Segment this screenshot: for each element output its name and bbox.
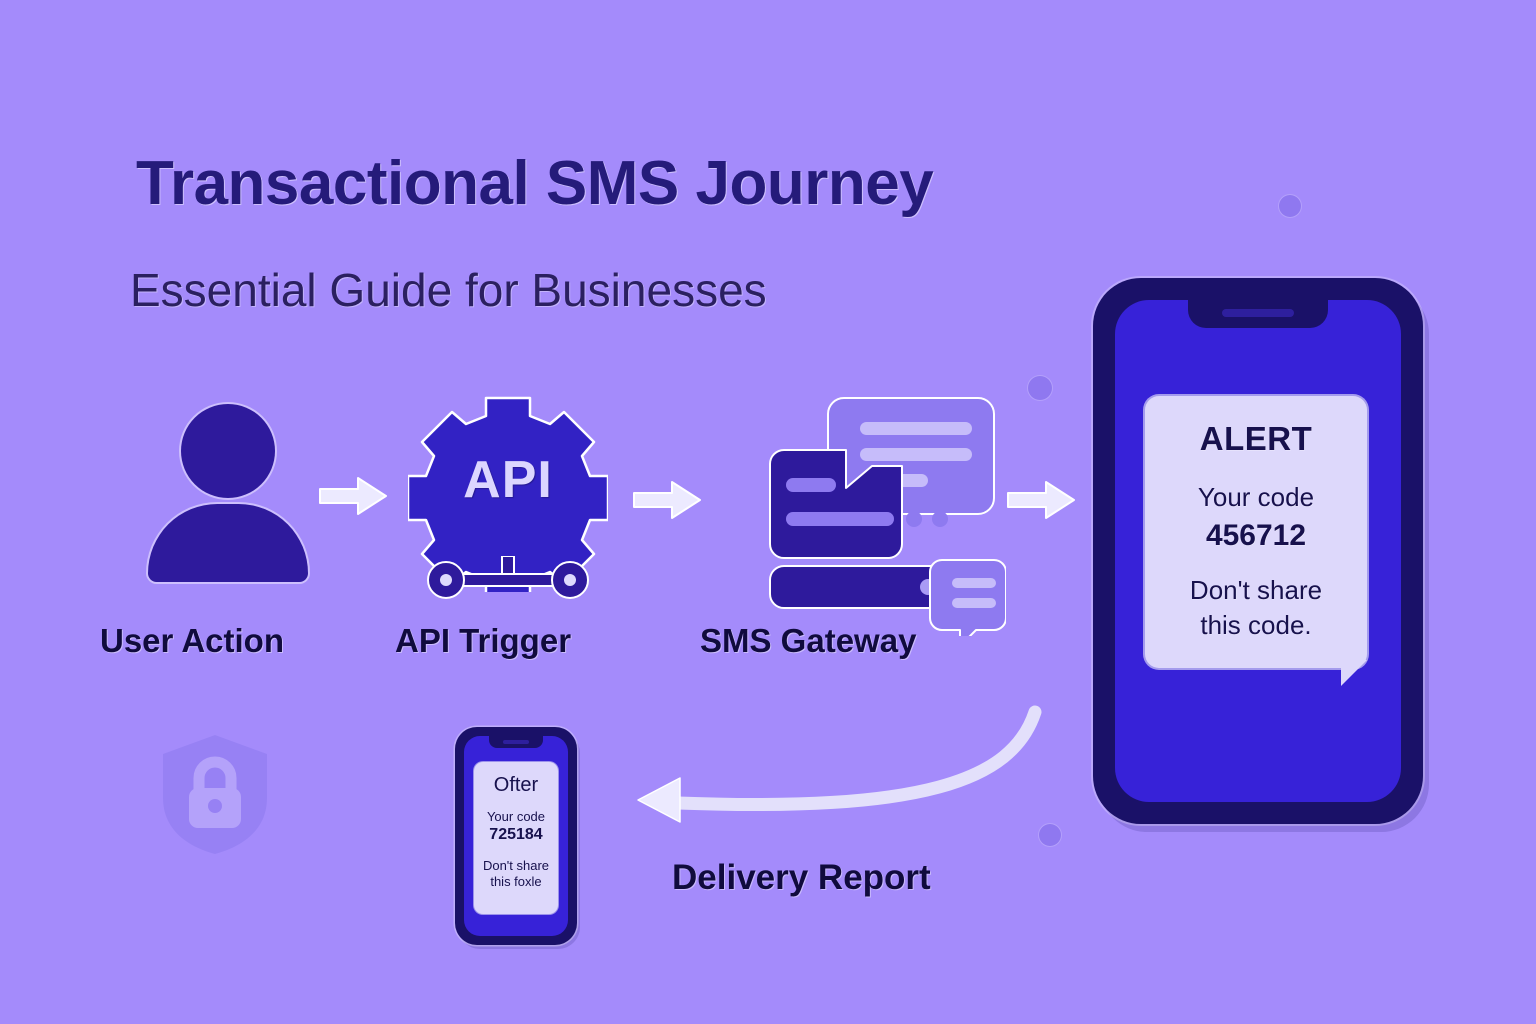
delivery-report-arrow-icon <box>620 690 1070 850</box>
step-label-api-trigger: API Trigger <box>395 622 571 660</box>
delivery-report-label: Delivery Report <box>672 858 931 898</box>
sms-warning-line1: Don't share <box>1145 575 1367 606</box>
arrow-gateway-to-phone-icon <box>1006 478 1076 527</box>
sms-code-value: 456712 <box>1145 519 1367 553</box>
page-title: Transactional SMS Journey <box>136 148 933 219</box>
decorative-dot <box>1279 195 1301 217</box>
delivered-sms-phone: ALERT Your code 456712 Don't share this … <box>1093 278 1423 824</box>
sms-small-code-label: Your code <box>474 809 558 824</box>
shield-lock-icon <box>155 732 275 857</box>
server-icon <box>756 386 1006 636</box>
sms-bubble-large: ALERT Your code 456712 Don't share this … <box>1145 396 1367 668</box>
delivery-report-phone: Ofter Your code 725184 Don't share this … <box>455 727 577 945</box>
network-connector-icon <box>420 556 596 604</box>
step-label-sms-gateway: SMS Gateway <box>700 622 916 660</box>
arrow-user-to-api-icon <box>318 474 388 523</box>
person-head-shape <box>181 404 275 498</box>
sms-small-title: Ofter <box>474 774 558 797</box>
decorative-dot <box>1028 376 1052 400</box>
infographic-canvas: Transactional SMS Journey Essential Guid… <box>0 0 1536 1024</box>
step-label-user-action: User Action <box>100 622 284 660</box>
person-icon <box>148 404 308 584</box>
sms-small-warning-line1: Don't share <box>474 858 558 873</box>
person-body-shape <box>148 504 308 582</box>
sms-small-code-value: 725184 <box>474 826 558 844</box>
arrow-api-to-gateway-icon <box>632 478 702 527</box>
page-subtitle: Essential Guide for Businesses <box>130 263 767 317</box>
chat-bubble-small-shape <box>930 560 1006 636</box>
phone-screen-small: Ofter Your code 725184 Don't share this … <box>464 736 568 936</box>
sms-small-warning-line2: this foxle <box>474 874 558 889</box>
sms-bubble-tail-large <box>1341 660 1367 686</box>
phone-speaker-large <box>1222 309 1294 317</box>
phone-screen-large: ALERT Your code 456712 Don't share this … <box>1115 300 1401 802</box>
sms-bubble-small: Ofter Your code 725184 Don't share this … <box>474 762 558 914</box>
server-bottom-unit-shape <box>770 566 954 608</box>
phone-speaker-small <box>503 740 529 744</box>
sms-alert-title: ALERT <box>1145 420 1367 458</box>
sms-code-label: Your code <box>1145 482 1367 513</box>
sms-warning-line2: this code. <box>1145 610 1367 641</box>
